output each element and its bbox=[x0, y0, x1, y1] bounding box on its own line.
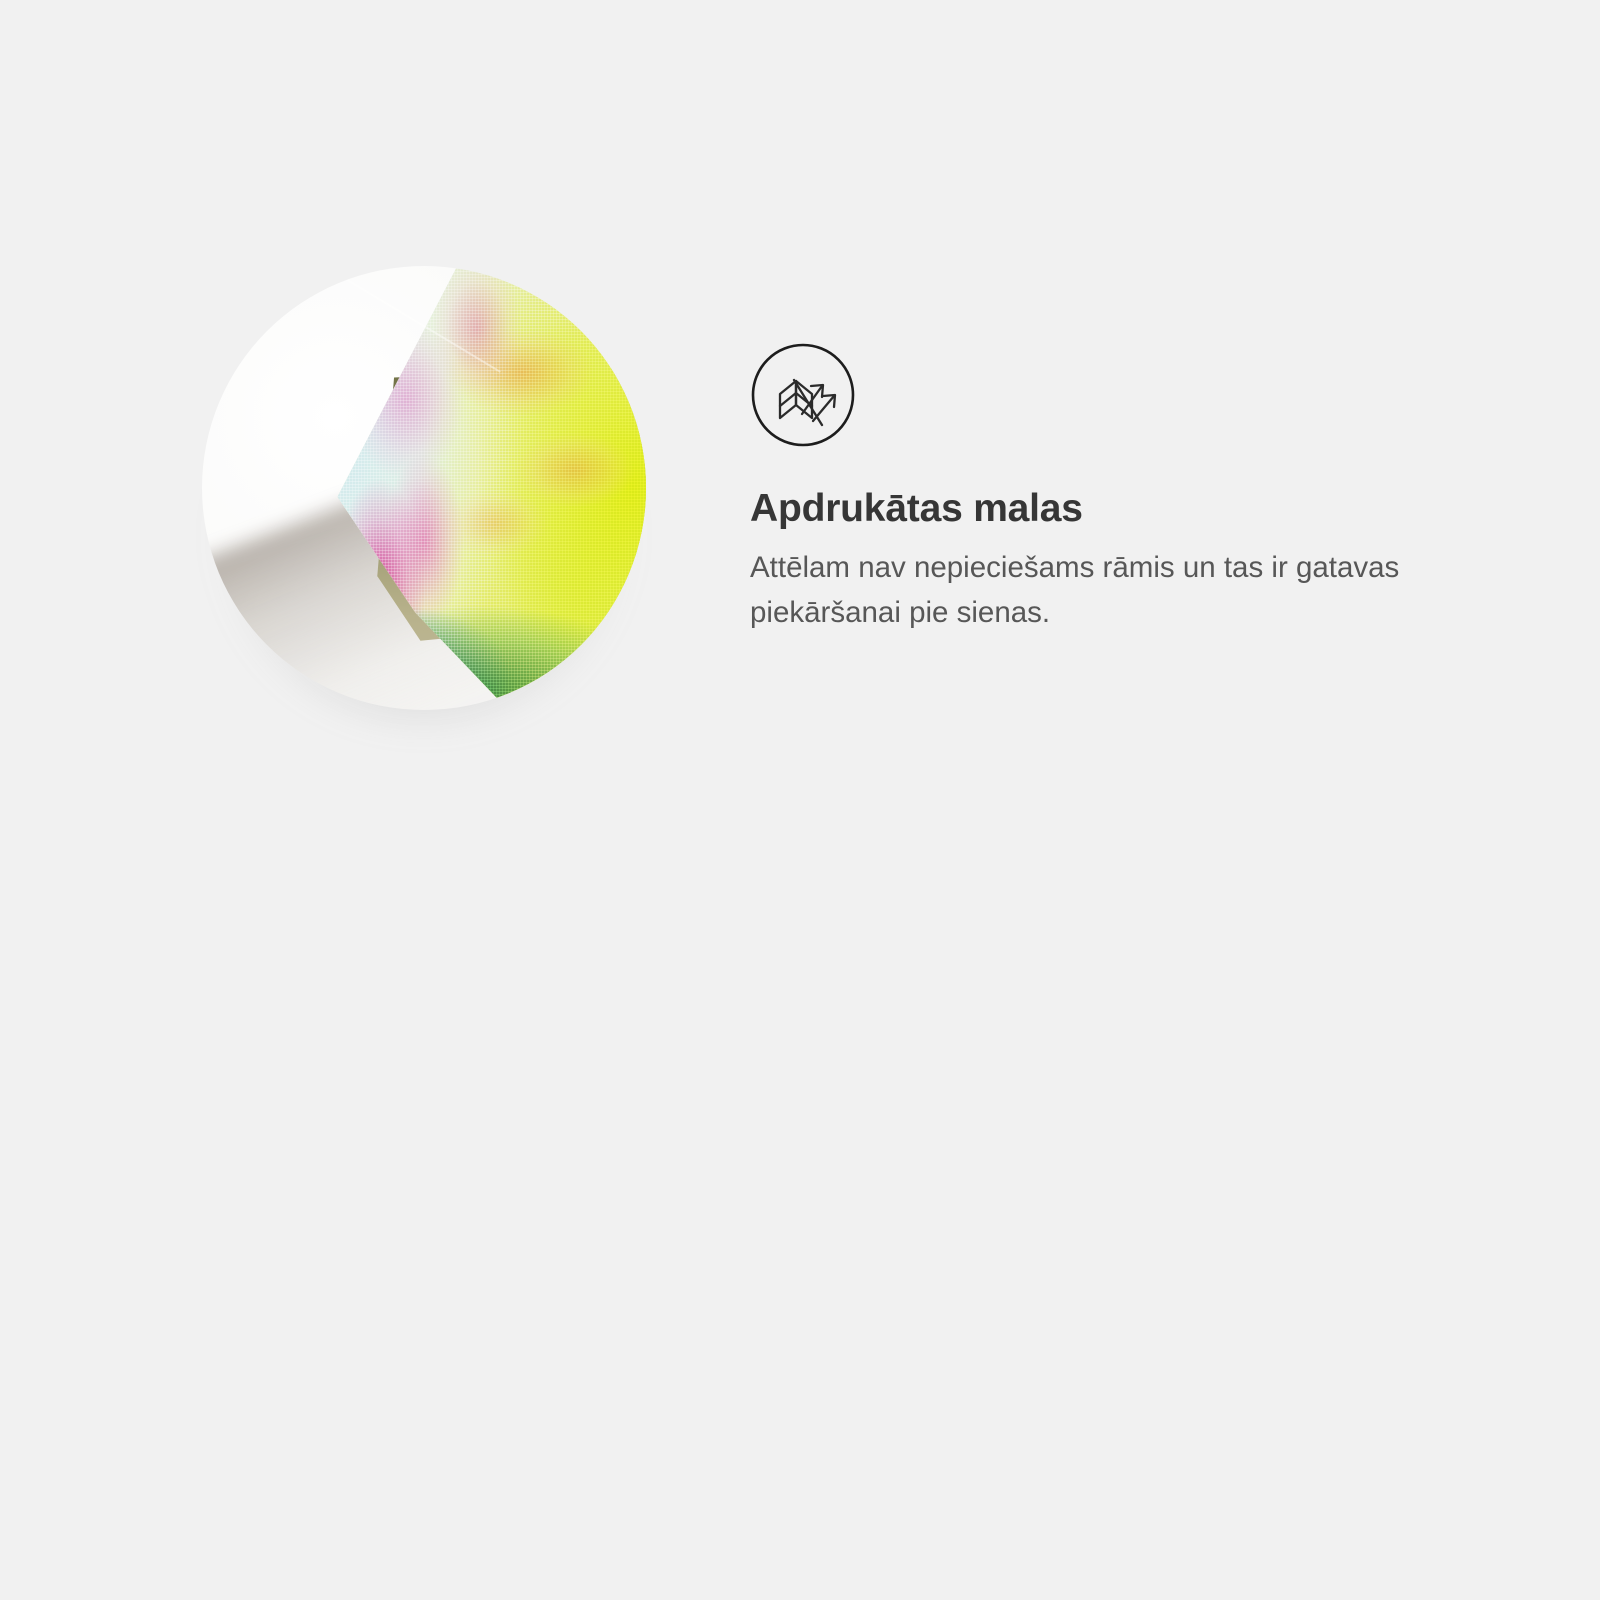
canvas-corner-photo bbox=[202, 266, 646, 710]
feature-block-eco: EKO produkts Mūsu ražošanas procesā tiek… bbox=[0, 800, 1600, 1600]
feature-text-printed-edges: Apdrukātas malas Attēlam nav nepieciešam… bbox=[750, 342, 1490, 635]
canvas-photo-scene bbox=[202, 266, 646, 710]
printed-edges-icon bbox=[750, 342, 856, 448]
feature-block-printed-edges: Apdrukātas malas Attēlam nav nepieciešam… bbox=[0, 0, 1600, 800]
feature-title: Apdrukātas malas bbox=[750, 488, 1490, 531]
media-circle-mask bbox=[202, 266, 646, 710]
feature-description: Attēlam nav nepieciešams rāmis un tas ir… bbox=[750, 545, 1480, 635]
feature-highlights-page: Apdrukātas malas Attēlam nav nepieciešam… bbox=[0, 0, 1600, 1600]
